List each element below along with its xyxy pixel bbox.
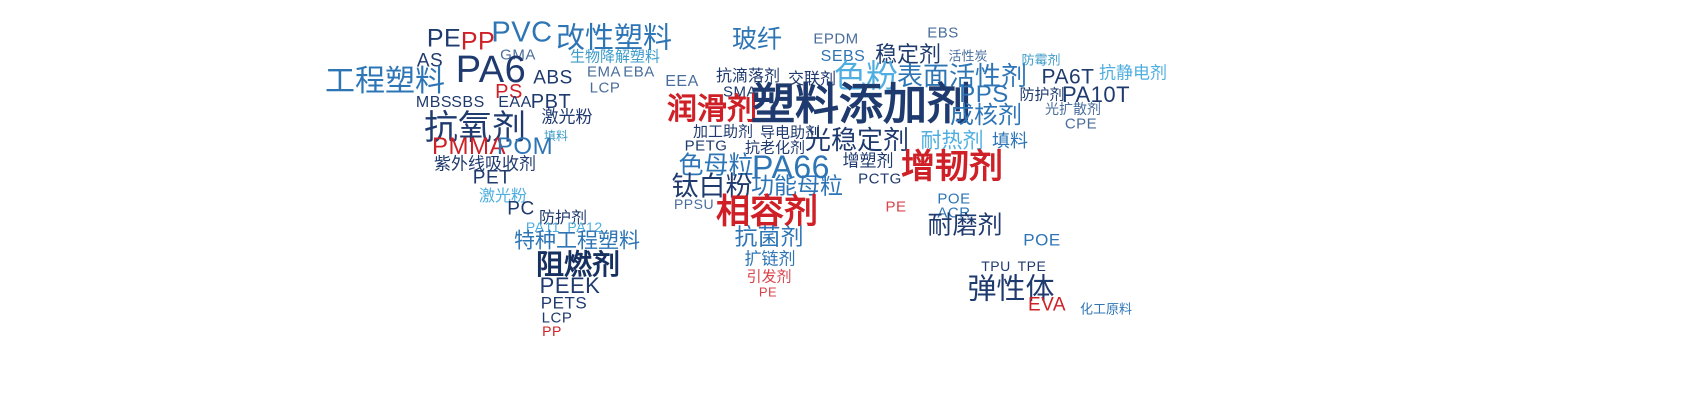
word-cloud-term[interactable]: PVC (491, 19, 552, 48)
word-cloud-term[interactable]: ABS (533, 69, 573, 88)
word-cloud-term[interactable]: PE (885, 200, 906, 215)
word-cloud-term[interactable]: 防护剂 (1019, 88, 1064, 103)
word-cloud-term[interactable]: EEA (665, 74, 699, 90)
word-cloud-term[interactable]: PPSU (674, 197, 714, 211)
word-cloud-term[interactable]: 工程塑料 (325, 67, 445, 97)
word-cloud-term[interactable]: POE (1023, 232, 1060, 249)
word-cloud-term[interactable]: 增塑剂 (843, 154, 894, 171)
word-cloud-term[interactable]: EMA (587, 65, 621, 80)
word-cloud-term[interactable]: 玻纤 (732, 27, 782, 52)
word-cloud-term[interactable]: PCTG (858, 172, 902, 187)
word-cloud-term[interactable]: PE (759, 286, 777, 299)
word-cloud-term[interactable]: EVA (1028, 296, 1066, 315)
word-cloud-term[interactable]: 成核剂 (950, 103, 1022, 127)
word-cloud-term[interactable]: CPE (1065, 117, 1097, 132)
word-cloud-term[interactable]: PC (507, 200, 534, 219)
word-cloud-term[interactable]: 抗菌剂 (735, 227, 804, 250)
word-cloud-term[interactable]: 引发剂 (746, 270, 791, 285)
word-cloud-term[interactable]: EBA (623, 65, 655, 80)
word-cloud: PEPPPVCGMA改性塑料玻纤EPDMEBSASPA6ABS生物降解塑料EMA… (0, 0, 1707, 400)
word-cloud-term[interactable]: PE (427, 27, 461, 52)
word-cloud-term[interactable]: 塑料添加剂 (751, 83, 971, 127)
word-cloud-term[interactable]: 激光粉 (542, 110, 593, 127)
word-cloud-term[interactable]: PET (473, 169, 511, 188)
word-cloud-term[interactable]: 生物降解塑料 (570, 50, 660, 65)
word-cloud-term[interactable]: 抗静电剂 (1099, 66, 1167, 83)
word-cloud-term[interactable]: EBS (927, 26, 959, 41)
word-cloud-term[interactable]: 耐磨剂 (927, 213, 1002, 238)
word-cloud-term[interactable]: 化工原料 (1080, 304, 1132, 317)
word-cloud-term[interactable]: EPDM (813, 32, 858, 47)
word-cloud-term[interactable]: 扩链剂 (745, 252, 796, 269)
word-cloud-term[interactable]: PP (542, 324, 562, 338)
word-cloud-term[interactable]: LCP (590, 81, 621, 96)
word-cloud-term[interactable]: 增韧剂 (901, 150, 1003, 184)
word-cloud-term[interactable]: 润滑剂 (667, 95, 757, 125)
